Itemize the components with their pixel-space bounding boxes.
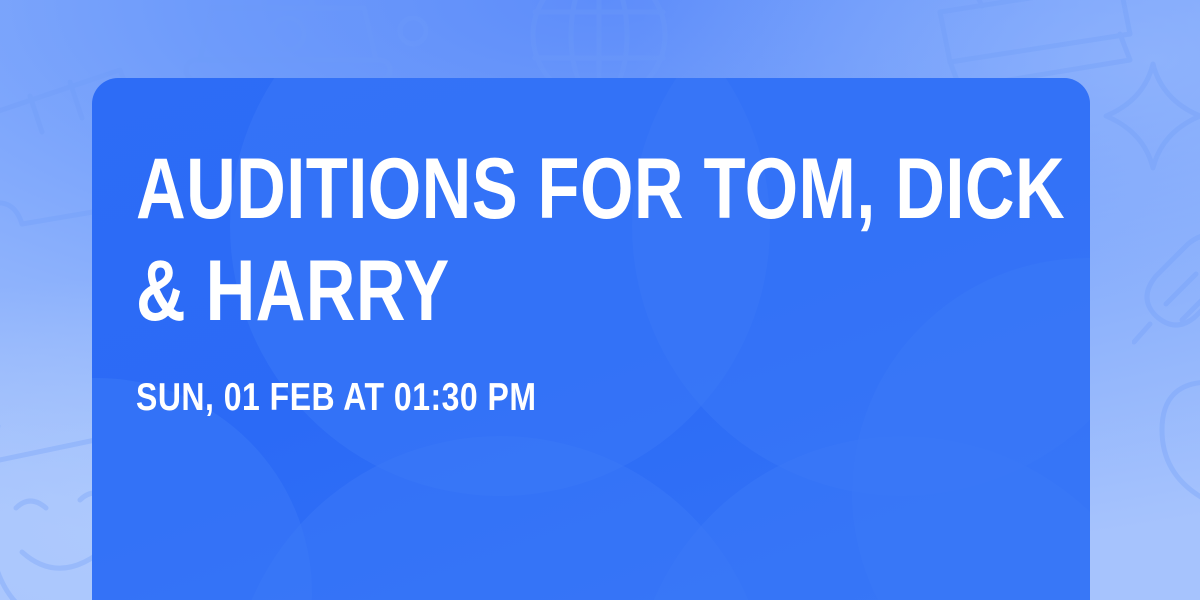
event-card[interactable]: Auditions for Tom, Dick & Harry Sun, 01 …	[92, 78, 1090, 600]
card-content: Auditions for Tom, Dick & Harry Sun, 01 …	[136, 138, 1030, 420]
event-datetime: Sun, 01 Feb at 01:30 PM	[136, 342, 956, 420]
event-banner: Auditions for Tom, Dick & Harry Sun, 01 …	[0, 0, 1200, 600]
decor-circle	[632, 436, 1090, 600]
decor-circle	[230, 436, 770, 600]
event-title: Auditions for Tom, Dick & Harry	[136, 138, 1090, 342]
